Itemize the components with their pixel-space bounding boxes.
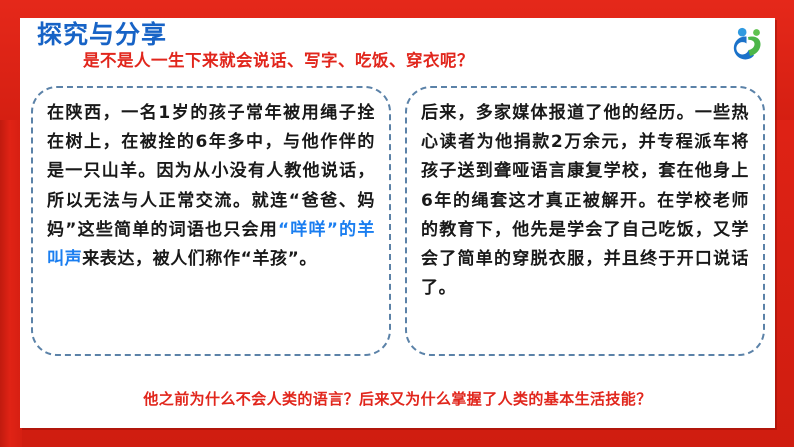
people-circle-logo-icon xyxy=(725,23,765,63)
story-text-left: 在陕西，一名1岁的孩子常年被用绳子拴在树上，在被拴的6年多中，与他作伴的是一只山… xyxy=(47,99,375,274)
header-subtitle-question: 是不是人一生下来就会说话、写字、吃饭、穿衣呢？ xyxy=(83,50,474,72)
story-boxes-row: 在陕西，一名1岁的孩子常年被用绳子拴在树上，在被拴的6年多中，与他作伴的是一只山… xyxy=(20,86,775,361)
story-box-left: 在陕西，一名1岁的孩子常年被用绳子拴在树上，在被拴的6年多中，与他作伴的是一只山… xyxy=(31,86,391,356)
page-title: 探究与分享 xyxy=(37,19,167,51)
story-left-part2: 来表达，被人们称作“羊孩”。 xyxy=(82,249,317,269)
story-box-right: 后来，多家媒体报道了他的经历。一些热心读者为他捐款2万余元，并专程派车将孩子送到… xyxy=(405,86,765,356)
story-text-right: 后来，多家媒体报道了他的经历。一些热心读者为他捐款2万余元，并专程派车将孩子送到… xyxy=(421,99,749,304)
slide-header: 探究与分享 是不是人一生下来就会说话、写字、吃饭、穿衣呢？ xyxy=(20,18,775,82)
content-card: 探究与分享 是不是人一生下来就会说话、写字、吃饭、穿衣呢？ xyxy=(20,18,775,428)
footer-question: 他之前为什么不会人类的语言？后来又为什么掌握了人类的基本生活技能？ xyxy=(20,388,775,410)
slide-canvas: 探究与分享 是不是人一生下来就会说话、写字、吃饭、穿衣呢？ xyxy=(0,0,794,447)
people-circle-logo xyxy=(725,23,765,63)
